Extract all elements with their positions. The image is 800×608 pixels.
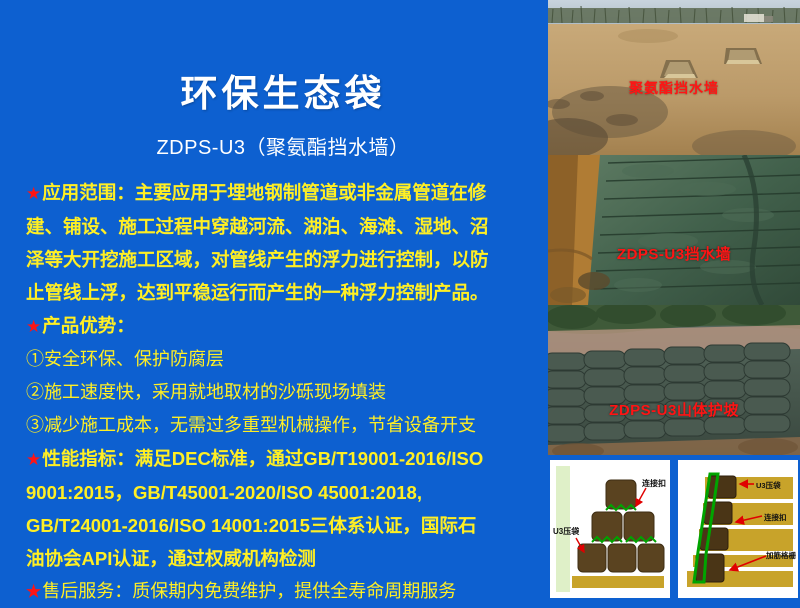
text-line-content: 性能指标：满足DEC标准，通过GB/T19001-2016/ISO [42,448,483,469]
diagram2-label-connector: 连接扣 [764,512,787,523]
body-text-block: ★应用范围：主要应用于埋地钢制管道或非金属管道在修建、铺设、施工过程中穿越河流、… [26,176,540,608]
photo-slope-caption: ZDPS-U3山体护坡 [548,399,800,420]
photo-retaining-wall-caption: ZDPS-U3挡水墙 [548,243,800,264]
page-subtitle: ZDPS-U3（聚氨酯挡水墙） [26,131,540,160]
text-line-l8: ③减少施工成本，无需过多重型机械操作，节省设备开支 [26,409,540,442]
text-line-l11: GB/T24001-2016/ISO 14001:2015三体系认证，国际石 [26,509,540,542]
text-line-l2: 建、铺设、施工过程中穿越河流、湖泊、海滩、湿地、沼 [26,210,540,243]
slide-root: 环保生态袋 ZDPS-U3（聚氨酯挡水墙） ★应用范围：主要应用于埋地钢制管道或… [0,0,800,600]
diagram2-label-u3-bag: U3压袋 [756,480,781,491]
text-line-l12: 油协会API认证，通过权威机构检测 [26,542,540,575]
photo-trench: 聚氨酯挡水墙 [548,0,800,155]
text-line-l9: ★性能指标：满足DEC标准，通过GB/T19001-2016/ISO [26,442,540,476]
text-line-l1: ★应用范围：主要应用于埋地钢制管道或非金属管道在修 [26,176,540,210]
text-line-content: ①安全环保、保护防腐层 [26,349,224,369]
text-line-content: 油协会API认证，通过权威机构检测 [26,548,316,569]
photo-column: 聚氨酯挡水墙 [548,0,800,455]
text-line-content: GB/T24001-2016/ISO 14001:2015三体系认证，国际石 [26,515,476,536]
diagram-label-connector: 连接扣 [642,478,666,489]
photo-trench-caption: 聚氨酯挡水墙 [548,78,800,98]
photo-slope: ZDPS-U3山体护坡 [548,305,800,455]
text-line-l10: 9001:2015，GB/T45001-2020/ISO 45001:2018, [26,476,540,509]
text-line-l7: ②施工速度快，采用就地取材的沙砾现场填装 [26,376,540,409]
text-line-content: ③减少施工成本，无需过多重型机械操作，节省设备开支 [26,415,476,435]
text-line-l6: ①安全环保、保护防腐层 [26,343,540,376]
text-line-l13: ★售后服务：质保期内免费维护，提供全寿命周期服务 [26,575,540,608]
text-line-content: 止管线上浮，达到平稳运行而产生的一种浮力控制产品。 [26,282,489,303]
text-line-content: 应用范围：主要应用于埋地钢制管道或非金属管道在修 [42,182,486,203]
text-line-content: ②施工速度快，采用就地取材的沙砾现场填装 [26,382,386,402]
text-line-content: 产品优势： [42,315,135,336]
text-line-content: 建、铺设、施工过程中穿越河流、湖泊、海滩、湿地、沼 [26,216,489,237]
page-title: 环保生态袋 [26,74,540,115]
star-bullet-icon: ★ [26,450,41,469]
text-line-content: 9001:2015，GB/T45001-2020/ISO 45001:2018, [26,482,422,503]
diagram-label-u3-bag: U3压袋 [553,526,579,537]
text-line-content: 泽等大开挖施工区域，对管线产生的浮力进行控制，以防 [26,249,489,270]
text-line-content: 售后服务：质保期内免费维护，提供全寿命周期服务 [42,581,456,601]
photo-retaining-wall: ZDPS-U3挡水墙 [548,155,800,305]
diagram-stacked-bags: 连接扣 U3压袋 [548,458,672,600]
diagram-row: 连接扣 U3压袋 [548,458,800,600]
text-line-l4: 止管线上浮，达到平稳运行而产生的一种浮力控制产品。 [26,276,540,309]
star-bullet-icon: ★ [26,317,41,336]
text-column: 环保生态袋 ZDPS-U3（聚氨酯挡水墙） ★应用范围：主要应用于埋地钢制管道或… [0,0,548,600]
star-bullet-icon: ★ [26,184,41,203]
text-line-l3: 泽等大开挖施工区域，对管线产生的浮力进行控制，以防 [26,243,540,276]
diagram2-label-geogrid: 加筋格栅 [766,550,796,561]
diagram-reinforced-slope: U3压袋 连接扣 加筋格栅 [676,458,800,600]
star-bullet-icon: ★ [26,582,41,601]
text-line-l5: ★产品优势： [26,309,540,343]
